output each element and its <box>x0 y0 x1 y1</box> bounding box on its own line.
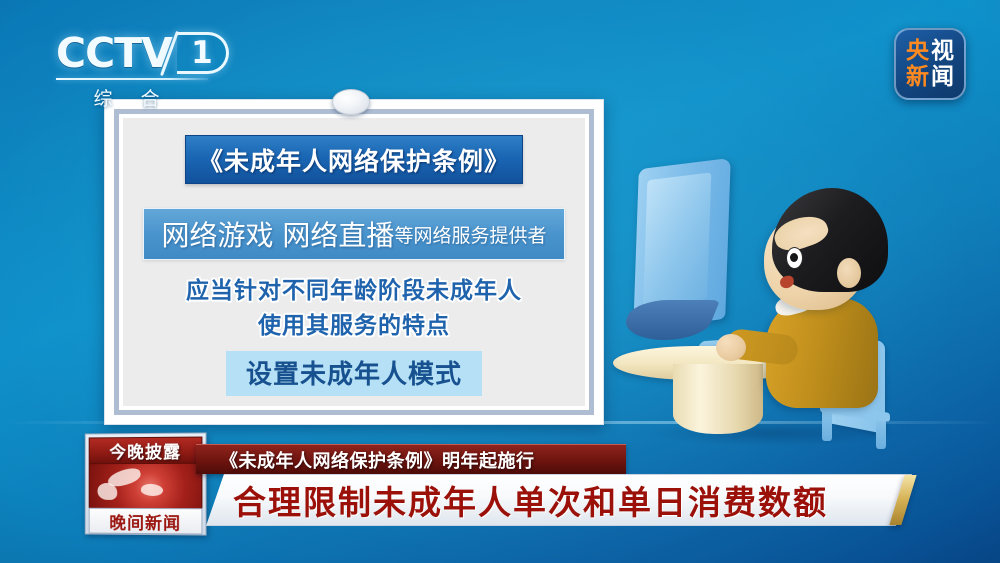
news-logo-char-yang: 央 <box>906 39 929 64</box>
lower-third-graphics: 今晚披露 晚间新闻 《未成年人网络保护条例》明年起施行 合理限制未成年人单次和单… <box>0 430 1000 545</box>
cctv-channel-number-badge: 1 <box>177 32 229 74</box>
card-content-area: 《未成年人网络保护条例》 网络游戏 网络直播 等网络服务提供者 应当针对不同年龄… <box>123 118 585 406</box>
globe-landmass-2 <box>98 483 118 500</box>
regulation-info-card: 《未成年人网络保护条例》 网络游戏 网络直播 等网络服务提供者 应当针对不同年龄… <box>104 99 604 425</box>
cctv-news-logo-badge: 央 视 新 闻 <box>894 28 966 100</box>
cctv-logo-underline <box>56 78 208 80</box>
service-providers-primary-text: 网络游戏 网络直播 <box>162 214 395 254</box>
service-providers-secondary-text: 等网络服务提供者 <box>394 221 546 248</box>
cctv-sub-label: 综 合 <box>56 84 208 111</box>
news-logo-line-2: 新 闻 <box>906 65 954 90</box>
cctv-number-text: 1 <box>177 32 227 74</box>
card-pin-knob <box>332 89 370 115</box>
headline-banner: 合理限制未成年人单次和单日消费数额 <box>206 474 912 526</box>
card-inner-frame: 《未成年人网络保护条例》 网络游戏 网络直播 等网络服务提供者 应当针对不同年龄… <box>114 109 594 415</box>
program-badge-top-text: 今晚披露 <box>109 438 181 463</box>
desk-pedestal <box>673 364 763 434</box>
globe-landmass-3 <box>140 482 164 497</box>
globe-icon <box>89 464 203 508</box>
kicker-banner: 《未成年人网络保护条例》明年起施行 <box>196 444 626 474</box>
news-logo-char-shi: 视 <box>931 39 954 64</box>
clause-line-1: 应当针对不同年龄阶段未成年人 <box>186 271 522 305</box>
news-logo-char-xin: 新 <box>906 65 929 90</box>
regulation-title-banner: 《未成年人网络保护条例》 <box>185 135 523 184</box>
boy-eye-pupil <box>790 253 798 262</box>
boy-hand <box>716 334 746 361</box>
broadcast-screen: CCTV 1 综 合 央 视 新 闻 <box>0 0 1000 563</box>
headline-text: 合理限制未成年人单次和单日消费数额 <box>233 476 828 524</box>
cctv-wordmark: CCTV <box>56 30 172 76</box>
regulation-title-text: 《未成年人网络保护条例》 <box>198 142 510 178</box>
cartoon-illustration-boy-at-computer <box>618 158 918 443</box>
clause-line-2: 使用其服务的特点 <box>258 306 450 340</box>
cctv-logo-row: CCTV 1 <box>56 30 231 76</box>
minor-mode-highlight: 设置未成年人模式 <box>226 351 482 396</box>
service-providers-row: 网络游戏 网络直播 等网络服务提供者 <box>143 208 565 260</box>
monitor-screen-surface <box>643 172 711 307</box>
program-badge-top-banner: 今晚披露 <box>89 437 203 465</box>
program-badge-bottom-banner: 晚间新闻 <box>89 508 203 535</box>
program-badge: 今晚披露 晚间新闻 <box>85 432 207 535</box>
boy-ear <box>837 258 861 288</box>
kicker-text: 《未成年人网络保护条例》明年起施行 <box>220 447 535 473</box>
cctv1-channel-logo: CCTV 1 综 合 <box>56 30 231 108</box>
news-logo-char-wen: 闻 <box>931 65 954 90</box>
program-name-text: 晚间新闻 <box>109 508 181 533</box>
news-logo-line-1: 央 视 <box>906 39 954 64</box>
